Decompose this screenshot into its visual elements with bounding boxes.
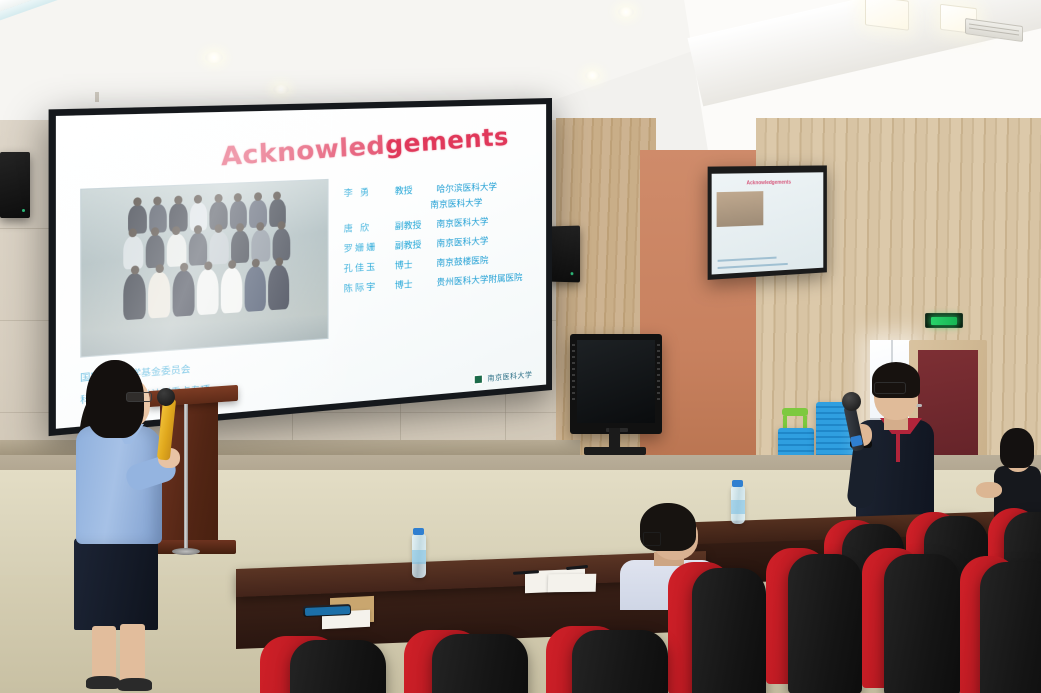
far-right-attendee-hair [1000,428,1034,468]
ack-affiliation: 贵州医科大学附属医院 [436,271,522,289]
flat-panel-screen [577,340,655,423]
ack-affiliation: 南京鼓楼医院 [436,254,488,269]
flat-panel-display[interactable] [570,334,662,434]
ack-row: 陈际宇 博士 贵州医科大学附属医院 [344,271,527,295]
presenter-skirt [74,538,158,630]
downlight-icon [585,71,600,80]
seated-attendee-glasses-icon [643,532,661,546]
ack-rank: 副教授 [395,238,430,252]
acknowledgement-list: 李 勇 教授 哈尔滨医科大学 南京医科大学 唐 欣 副教授 南京医科大学 罗姗姗 [344,171,527,338]
ack-rank: 教授 [395,183,430,197]
ack-name: 陈际宇 [344,279,389,294]
downlight-icon [273,85,289,94]
green-stool-icon [782,408,808,416]
downlight-icon [618,7,634,17]
ack-rank: 博士 [395,277,430,292]
water-bottle[interactable] [412,534,426,578]
ack-affiliation: 南京医科大学 [436,234,488,249]
ack-rank: 博士 [395,257,430,272]
presenter-shoe [118,678,152,691]
smartphone[interactable] [303,604,351,617]
downlight-icon [205,52,223,63]
confidence-monitor-text [767,190,819,225]
exit-sign-icon [931,317,957,325]
presenter-glasses-icon [126,392,152,402]
bottle-label [412,550,426,564]
ack-row: 唐 欣 副教授 南京医科大学 [344,213,527,235]
logo-mark-icon [473,374,483,385]
ack-row: 罗姗姗 副教授 南京医科大学 [344,232,527,254]
wall-speaker-right [549,226,580,283]
logo-text: 南京医科大学 [487,370,532,384]
far-right-attendee-hand [976,482,1002,498]
wall-speaker-left [0,152,30,218]
sprinkler-icon [95,92,99,102]
exit-sign [925,313,963,328]
podium-mic-stand [184,404,188,552]
bottle-cap [413,528,424,535]
black-microphone-head [842,392,861,411]
slide-title: Acknowledgements [220,121,526,172]
confidence-monitor-surface: Acknowledgements [712,172,824,274]
podium-mic-base [172,548,200,555]
ack-name: 孔佳玉 [344,260,389,275]
group-photo [80,179,328,358]
presenter-leg [120,624,145,684]
bottle-cap [732,480,743,487]
ack-name: 李 勇 [344,185,389,199]
paper-sheet[interactable] [548,574,597,592]
ack-name: 罗姗姗 [344,240,389,255]
conference-hall-photo: Acknowledgements [0,0,1041,693]
ceiling-panel-light [865,0,909,31]
questioner-glasses-icon [874,382,906,394]
presenter-leg [92,626,116,682]
ack-affiliation-secondary: 南京医科大学 [430,194,526,211]
confidence-monitor-photo [717,191,764,227]
confidence-monitor: Acknowledgements [708,165,827,279]
ack-name: 唐 欣 [344,220,389,235]
ack-affiliation: 哈尔滨医科大学 [436,180,497,195]
ack-rank: 副教授 [395,218,430,232]
ack-affiliation: 南京医科大学 [436,215,488,230]
presenter-shoe [86,676,120,689]
display-cart-shelf [584,447,646,455]
questioner-placket [896,428,900,462]
